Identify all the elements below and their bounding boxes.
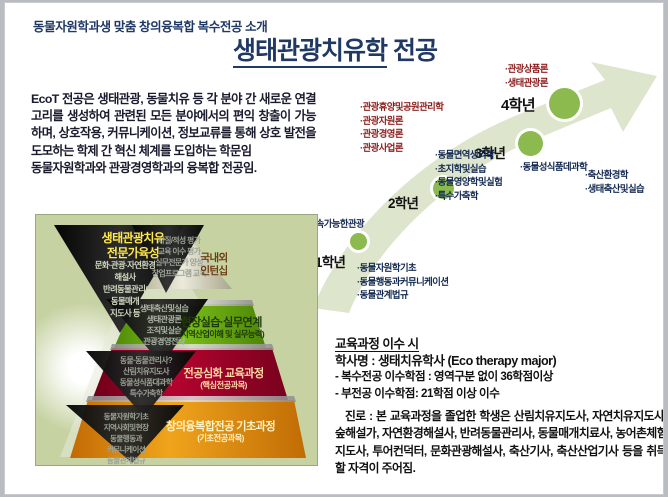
- career-paragraph: 진로 : 본 교육과정을 졸업한 학생은 산림치유지도사, 자연치유지도사, 숲…: [335, 408, 664, 477]
- course-list-year1: ·동물자원학기초 ·동물행동과커뮤니케이션 ·동물관계법규: [357, 261, 448, 302]
- year-label-4: 4학년: [501, 94, 535, 115]
- intro-body: EcoT 전공은 생태관광, 동물치유 등 각 분야 간 새로운 연결고리를 생…: [31, 92, 316, 158]
- info-heading-1: 교육과정 이수 시: [335, 336, 664, 353]
- course-list-top: ·관광상품론 ·생태관광론: [505, 62, 548, 89]
- slide-canvas: 동물자원학과생 맞춤 창의융복합 복수전공 소개 생태관광치유학 전공 EcoT…: [4, 2, 664, 495]
- pyramid-tier-2-main: 전공심화 교육과정: [146, 368, 301, 381]
- pyramid-tier-3-main: 현장실습·실무연계: [154, 317, 289, 330]
- course-list-tourism: ·관광휴양및공원관리학 ·관광자원론 ·관광경영론 ·관광사업론: [360, 100, 443, 154]
- intro-body2: 동물자원학과와 관광경영학과의 융복합 전공임.: [31, 160, 316, 177]
- intro-paragraph: EcoT 전공은 생태관광, 동물치유 등 각 분야 간 새로운 연결고리를 생…: [31, 91, 316, 177]
- growth-arrow-diagram: 1학년 2학년 3학년 4학년 ·관광상품론 ·생태관광론 ·관광휴양및공원관리…: [305, 58, 664, 313]
- curriculum-info-block: 교육과정 이수 시 학사명 : 생태치유학사 (Eco therapy majo…: [335, 336, 664, 402]
- year-node-4: [549, 88, 580, 119]
- course-list-year3: ·축산환경학 ·생태축산및실습: [585, 168, 644, 195]
- year-node-1: [350, 233, 367, 250]
- year-node-3: [518, 131, 543, 156]
- pyramid-tier-3-sub: (지역산업이해 및 실무능력): [154, 330, 289, 340]
- course-list-year2: ·동물면역생리학 ·초지학및실습 ·동물영양학및실험 ·특수가축학: [435, 148, 502, 202]
- info-heading-2: 학사명 : 생태치유학사 (Eco therapy major): [335, 353, 664, 370]
- pyramid-tier-1-label: 창의융복합전공 기초과정 (기초전공과목): [128, 421, 313, 444]
- year-label-1: 1학년: [315, 251, 345, 271]
- pyramid-tier-3-label: 현장실습·실무연계 (지역산업이해 및 실무능력): [154, 317, 289, 340]
- pyramid-tier-1-sub: (기초전공과목): [128, 434, 313, 444]
- pyramid-tier-top-label: 국내외 인턴십: [183, 252, 245, 277]
- info-heading-1-text: 교육과정 이수 시: [335, 337, 419, 352]
- course-list-year4: ·동물성식품데과학: [520, 160, 587, 174]
- year-label-2: 2학년: [388, 192, 418, 212]
- pyramid-tier-2-label: 전공심화 교육과정 (핵심전공과목): [146, 368, 301, 391]
- pyramid-tier-2-sub: (핵심전공과목): [146, 381, 301, 391]
- info-item-2: - 부전공 이수학점: 21학점 이상 이수: [335, 386, 664, 403]
- pyramid-figure: 생태관광치유 전문가육성 문화·관광·자연환경 해설사 반려동물관리/ 동물매개…: [35, 214, 318, 466]
- pyramid-tier-top-main: 국내외 인턴십: [183, 252, 245, 277]
- info-item-1: - 복수전공 이수학점 : 영역구분 없이 36학점이상: [335, 369, 664, 386]
- pyramid-tier-1-main: 창의융복합전공 기초과정: [128, 421, 313, 434]
